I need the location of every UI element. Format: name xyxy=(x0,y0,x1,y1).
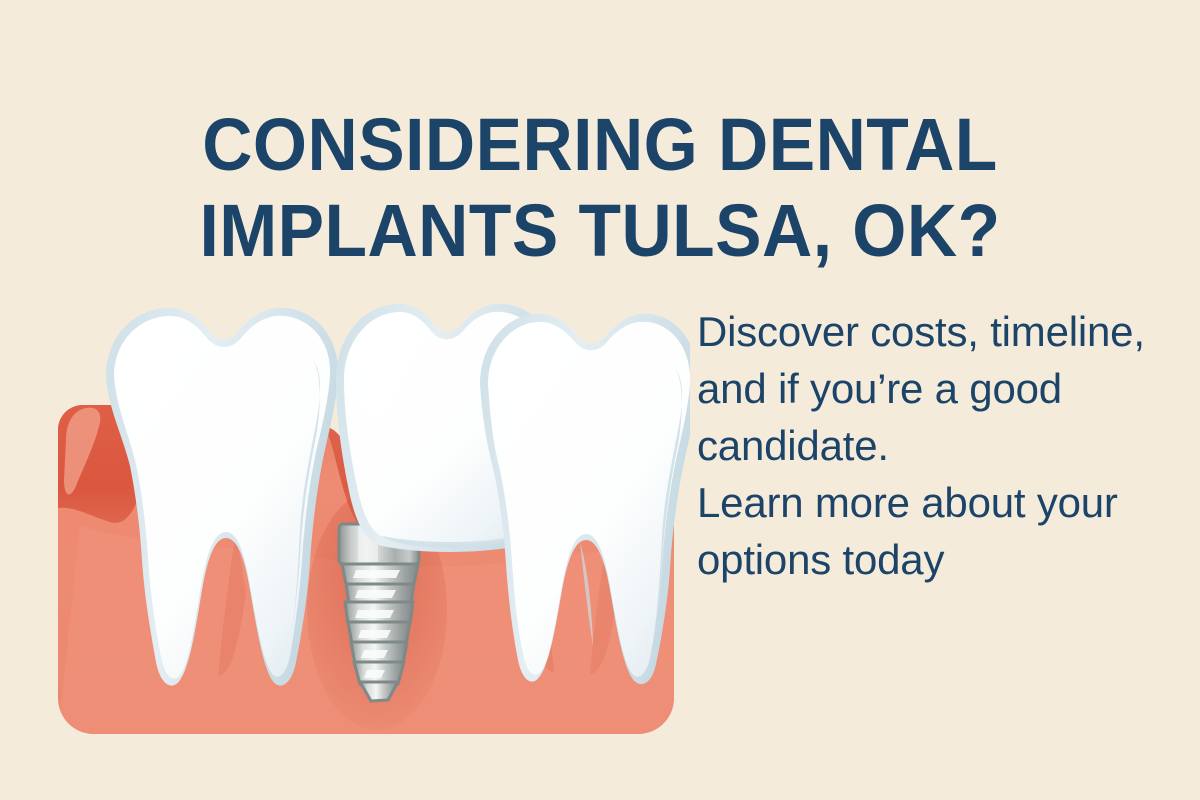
page-title: CONSIDERING DENTAL IMPLANTS TULSA, OK? xyxy=(36,102,1164,274)
copy-paragraph-2: Learn more about your options today xyxy=(697,474,1177,588)
dental-implant-illustration xyxy=(40,280,690,750)
copy-paragraph-1: Discover costs, timeline, and if you’re … xyxy=(697,303,1177,474)
copy-block: Discover costs, timeline, and if you’re … xyxy=(697,303,1177,588)
ad-canvas: CONSIDERING DENTAL IMPLANTS TULSA, OK? xyxy=(0,0,1200,800)
headline-line-1: CONSIDERING DENTAL xyxy=(36,102,1164,188)
headline-line-2: IMPLANTS TULSA, OK? xyxy=(36,188,1164,274)
